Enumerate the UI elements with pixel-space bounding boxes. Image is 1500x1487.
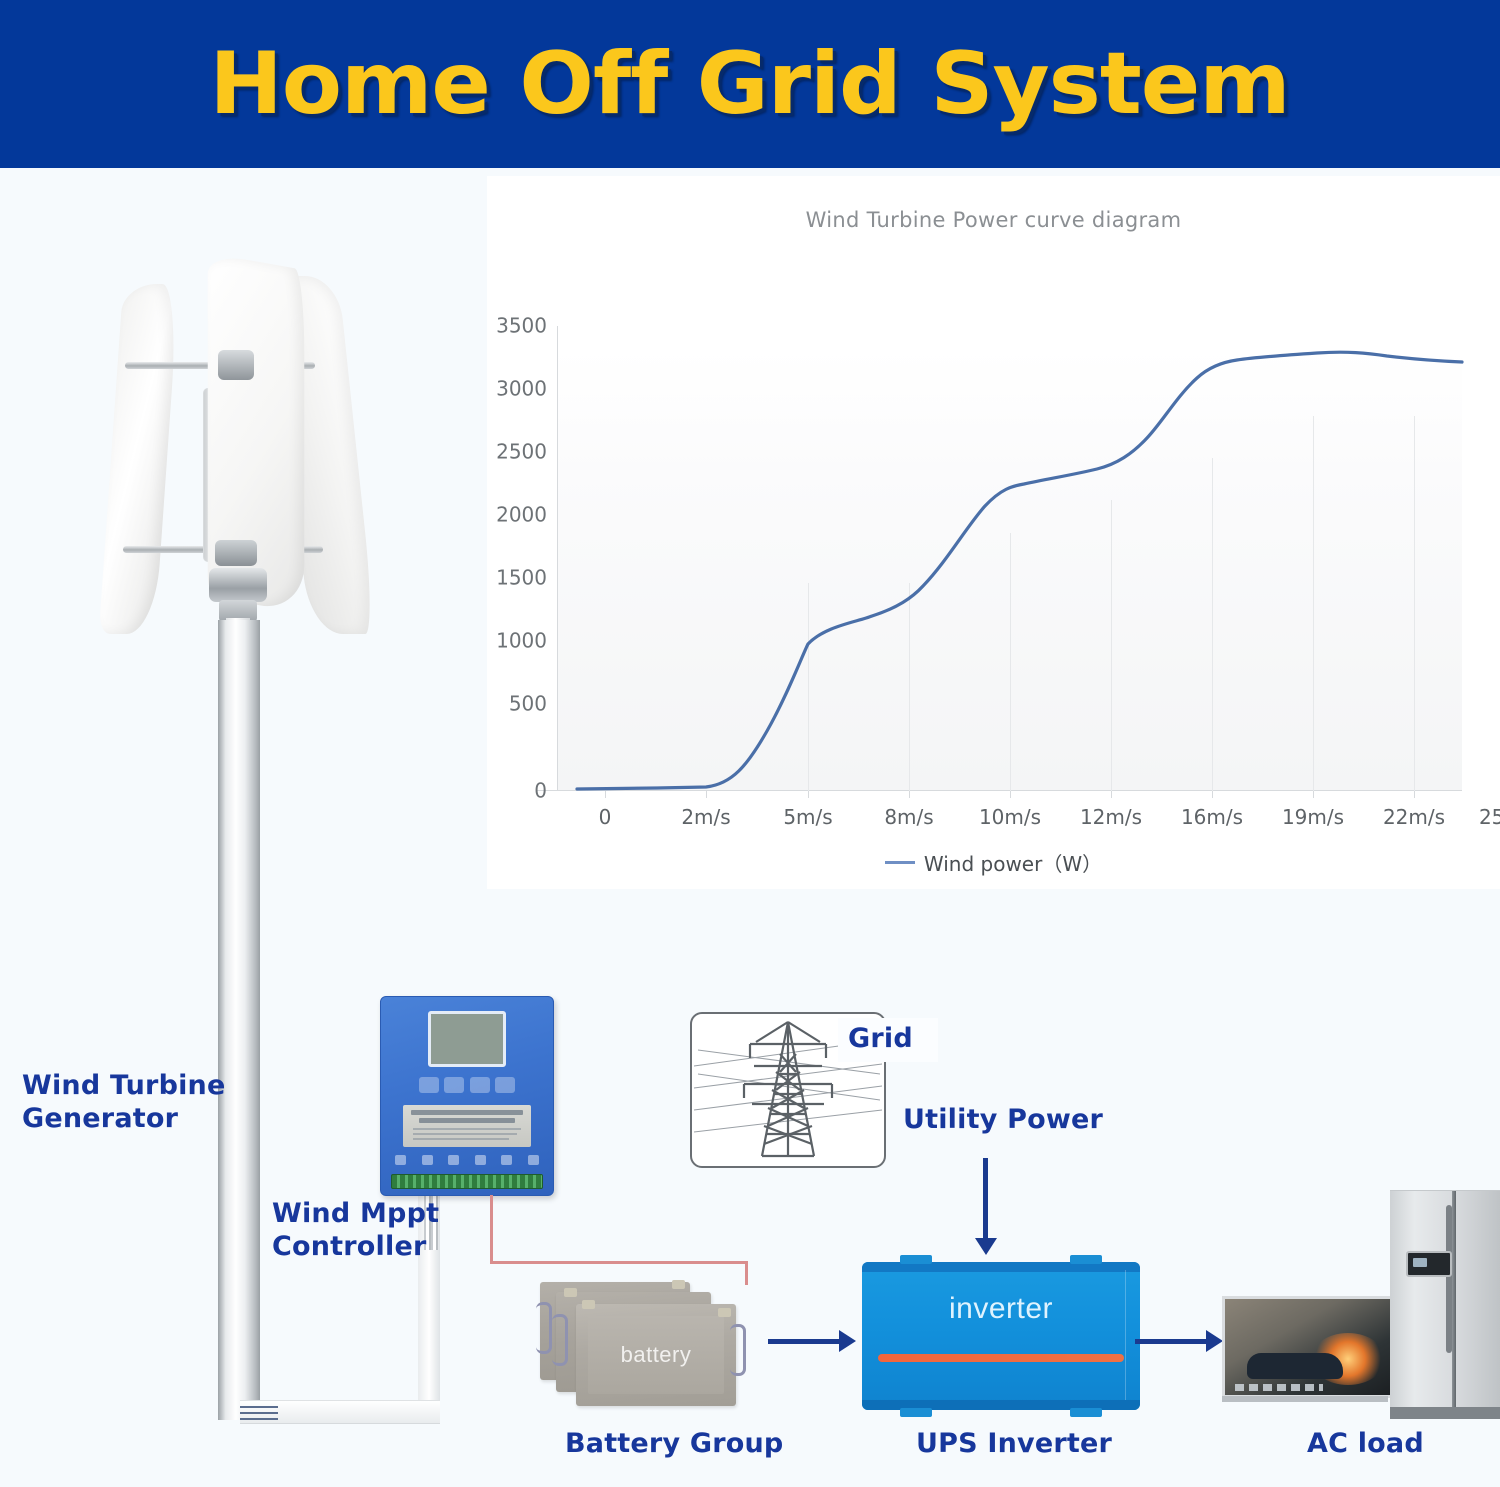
- tv-image-car: [1247, 1353, 1343, 1379]
- fridge-handle: [1446, 1205, 1452, 1353]
- controller-symbol-icon: [528, 1155, 539, 1165]
- x-tickmark: [808, 791, 809, 798]
- x-tickmark: [1414, 791, 1415, 798]
- inverter-foot: [1070, 1408, 1102, 1417]
- label-ups-inverter: UPS Inverter: [916, 1428, 1112, 1461]
- tv-screen: [1222, 1296, 1394, 1398]
- legend-swatch-wind-power: [885, 861, 915, 864]
- battery-handle: [536, 1302, 552, 1354]
- wind-turbine-image: HENGJINGTR: [95, 262, 375, 642]
- label-grid: Grid: [848, 1023, 913, 1056]
- label-ac-load: AC load: [1307, 1428, 1424, 1461]
- inverter-mount-tab: [1070, 1255, 1102, 1264]
- y-tick-label: 3000: [496, 377, 547, 401]
- ups-inverter-device: inverter: [862, 1262, 1140, 1410]
- page-title: Home Off Grid System: [210, 34, 1290, 134]
- turbine-hub-bottom: [215, 540, 257, 566]
- tv-image-subtitle: [1235, 1384, 1323, 1391]
- label-line-2: Generator: [22, 1103, 226, 1136]
- y-tick-label: 2000: [496, 503, 547, 527]
- inverter-to-load-arrow-head: [1206, 1330, 1223, 1352]
- x-tick-label: 19m/s: [1282, 805, 1344, 829]
- controller-label-plate: [403, 1105, 531, 1147]
- conduit-stripe: [240, 1418, 278, 1420]
- plate-text-line: [413, 1133, 517, 1135]
- refrigerator-appliance: [1390, 1190, 1500, 1419]
- dc-wire-red-vertical: [490, 1195, 493, 1263]
- x-tick-label: 16m/s: [1181, 805, 1243, 829]
- x-tick-label: 2m/s: [681, 805, 730, 829]
- plate-text-line: [413, 1128, 521, 1130]
- label-wind-mppt-controller: Wind Mppt Controller: [272, 1198, 439, 1264]
- y-tick-label: 500: [509, 692, 547, 716]
- battery-label-text: battery: [576, 1304, 736, 1406]
- plate-text-line: [411, 1110, 523, 1115]
- x-tickmark: [909, 791, 910, 798]
- controller-symbol-icon: [448, 1155, 459, 1165]
- y-tick-label: 3500: [496, 314, 547, 338]
- battery-terminal: [564, 1288, 577, 1297]
- controller-button: [470, 1077, 490, 1093]
- battery-group-image: battery: [540, 1278, 750, 1406]
- label-wind-turbine-generator: Wind Turbine Generator: [22, 1070, 226, 1136]
- y-tick-label: 0: [534, 779, 547, 803]
- controller-symbol-icon: [501, 1155, 512, 1165]
- tv-stand: [1222, 1396, 1388, 1402]
- x-tick-label: 5m/s: [783, 805, 832, 829]
- label-line-1: Wind Mppt: [272, 1198, 439, 1231]
- x-tick-label: 12m/s: [1080, 805, 1142, 829]
- conduit-stripe: [240, 1412, 278, 1414]
- battery-to-inverter-arrow-line: [768, 1339, 840, 1344]
- chart-legend: Wind power（W）: [487, 848, 1500, 877]
- utility-power-arrow-head: [975, 1238, 997, 1255]
- controller-icon-row: [395, 1155, 539, 1169]
- controller-button: [495, 1077, 515, 1093]
- label-battery-group: Battery Group: [565, 1428, 783, 1461]
- controller-lcd-screen: [428, 1011, 506, 1067]
- x-tick-label: 22m/s: [1383, 805, 1445, 829]
- fridge-panel-display: [1413, 1258, 1427, 1267]
- x-tickmark: [605, 791, 606, 798]
- x-tick-label: 0: [599, 805, 612, 829]
- x-tickmark: [1212, 791, 1213, 798]
- turbine-bearing: [209, 568, 267, 602]
- chart-title: Wind Turbine Power curve diagram: [487, 208, 1500, 232]
- inverter-foot: [900, 1408, 932, 1417]
- label-line-1: Wind Turbine: [22, 1070, 226, 1103]
- fridge-door-split: [1452, 1191, 1456, 1407]
- controller-symbol-icon: [395, 1155, 406, 1165]
- conduit-stripe: [240, 1406, 278, 1408]
- plate-text-line: [419, 1118, 515, 1123]
- page-header-banner: Home Off Grid System: [0, 0, 1500, 168]
- y-tick-label: 2500: [496, 440, 547, 464]
- wind-mppt-controller-device: [380, 996, 554, 1196]
- x-tick-label: 8m/s: [884, 805, 933, 829]
- controller-button-row: [419, 1075, 515, 1095]
- chart-plot-area: 3500 3000 2500 2000 1500 1000 500 0 0 2m…: [557, 348, 1462, 791]
- dc-wire-red-horizontal: [490, 1261, 748, 1264]
- fridge-control-panel: [1406, 1251, 1452, 1277]
- y-tick-label: 1000: [496, 629, 547, 653]
- television-appliance: [1222, 1296, 1388, 1402]
- x-tickmark: [1010, 791, 1011, 798]
- y-tick-label: 1500: [496, 566, 547, 590]
- wind-power-curve-line: [557, 326, 1462, 791]
- controller-symbol-icon: [422, 1155, 433, 1165]
- fridge-base: [1390, 1407, 1500, 1419]
- utility-power-arrow-line: [983, 1158, 988, 1240]
- power-curve-chart: Wind Turbine Power curve diagram 3500 30…: [487, 176, 1500, 889]
- x-tickmark: [1111, 791, 1112, 798]
- label-line-2: Controller: [272, 1231, 439, 1264]
- controller-symbol-icon: [475, 1155, 486, 1165]
- battery-to-inverter-arrow-head: [839, 1330, 856, 1352]
- inverter-label-text: inverter: [862, 1292, 1140, 1326]
- plate-text-line: [413, 1138, 509, 1140]
- turbine-blade-left: [99, 284, 179, 634]
- controller-button: [419, 1077, 439, 1093]
- controller-terminal-block: [391, 1174, 543, 1189]
- x-tick-label: 25m/s: [1479, 805, 1500, 829]
- legend-label-wind-power: Wind power（W）: [924, 848, 1102, 877]
- controller-button: [444, 1077, 464, 1093]
- x-tickmark: [706, 791, 707, 798]
- inverter-accent-stripe: [878, 1354, 1124, 1362]
- turbine-pole: [218, 620, 260, 1420]
- battery-terminal: [672, 1280, 685, 1289]
- inverter-mount-tab: [900, 1255, 932, 1264]
- inverter-to-load-arrow-line: [1135, 1339, 1207, 1344]
- battery-handle: [552, 1314, 568, 1366]
- label-utility-power: Utility Power: [903, 1104, 1103, 1137]
- x-tick-label: 10m/s: [979, 805, 1041, 829]
- turbine-hub-top: [218, 350, 254, 380]
- x-tickmark: [1313, 791, 1314, 798]
- inverter-side-edge: [1125, 1270, 1126, 1402]
